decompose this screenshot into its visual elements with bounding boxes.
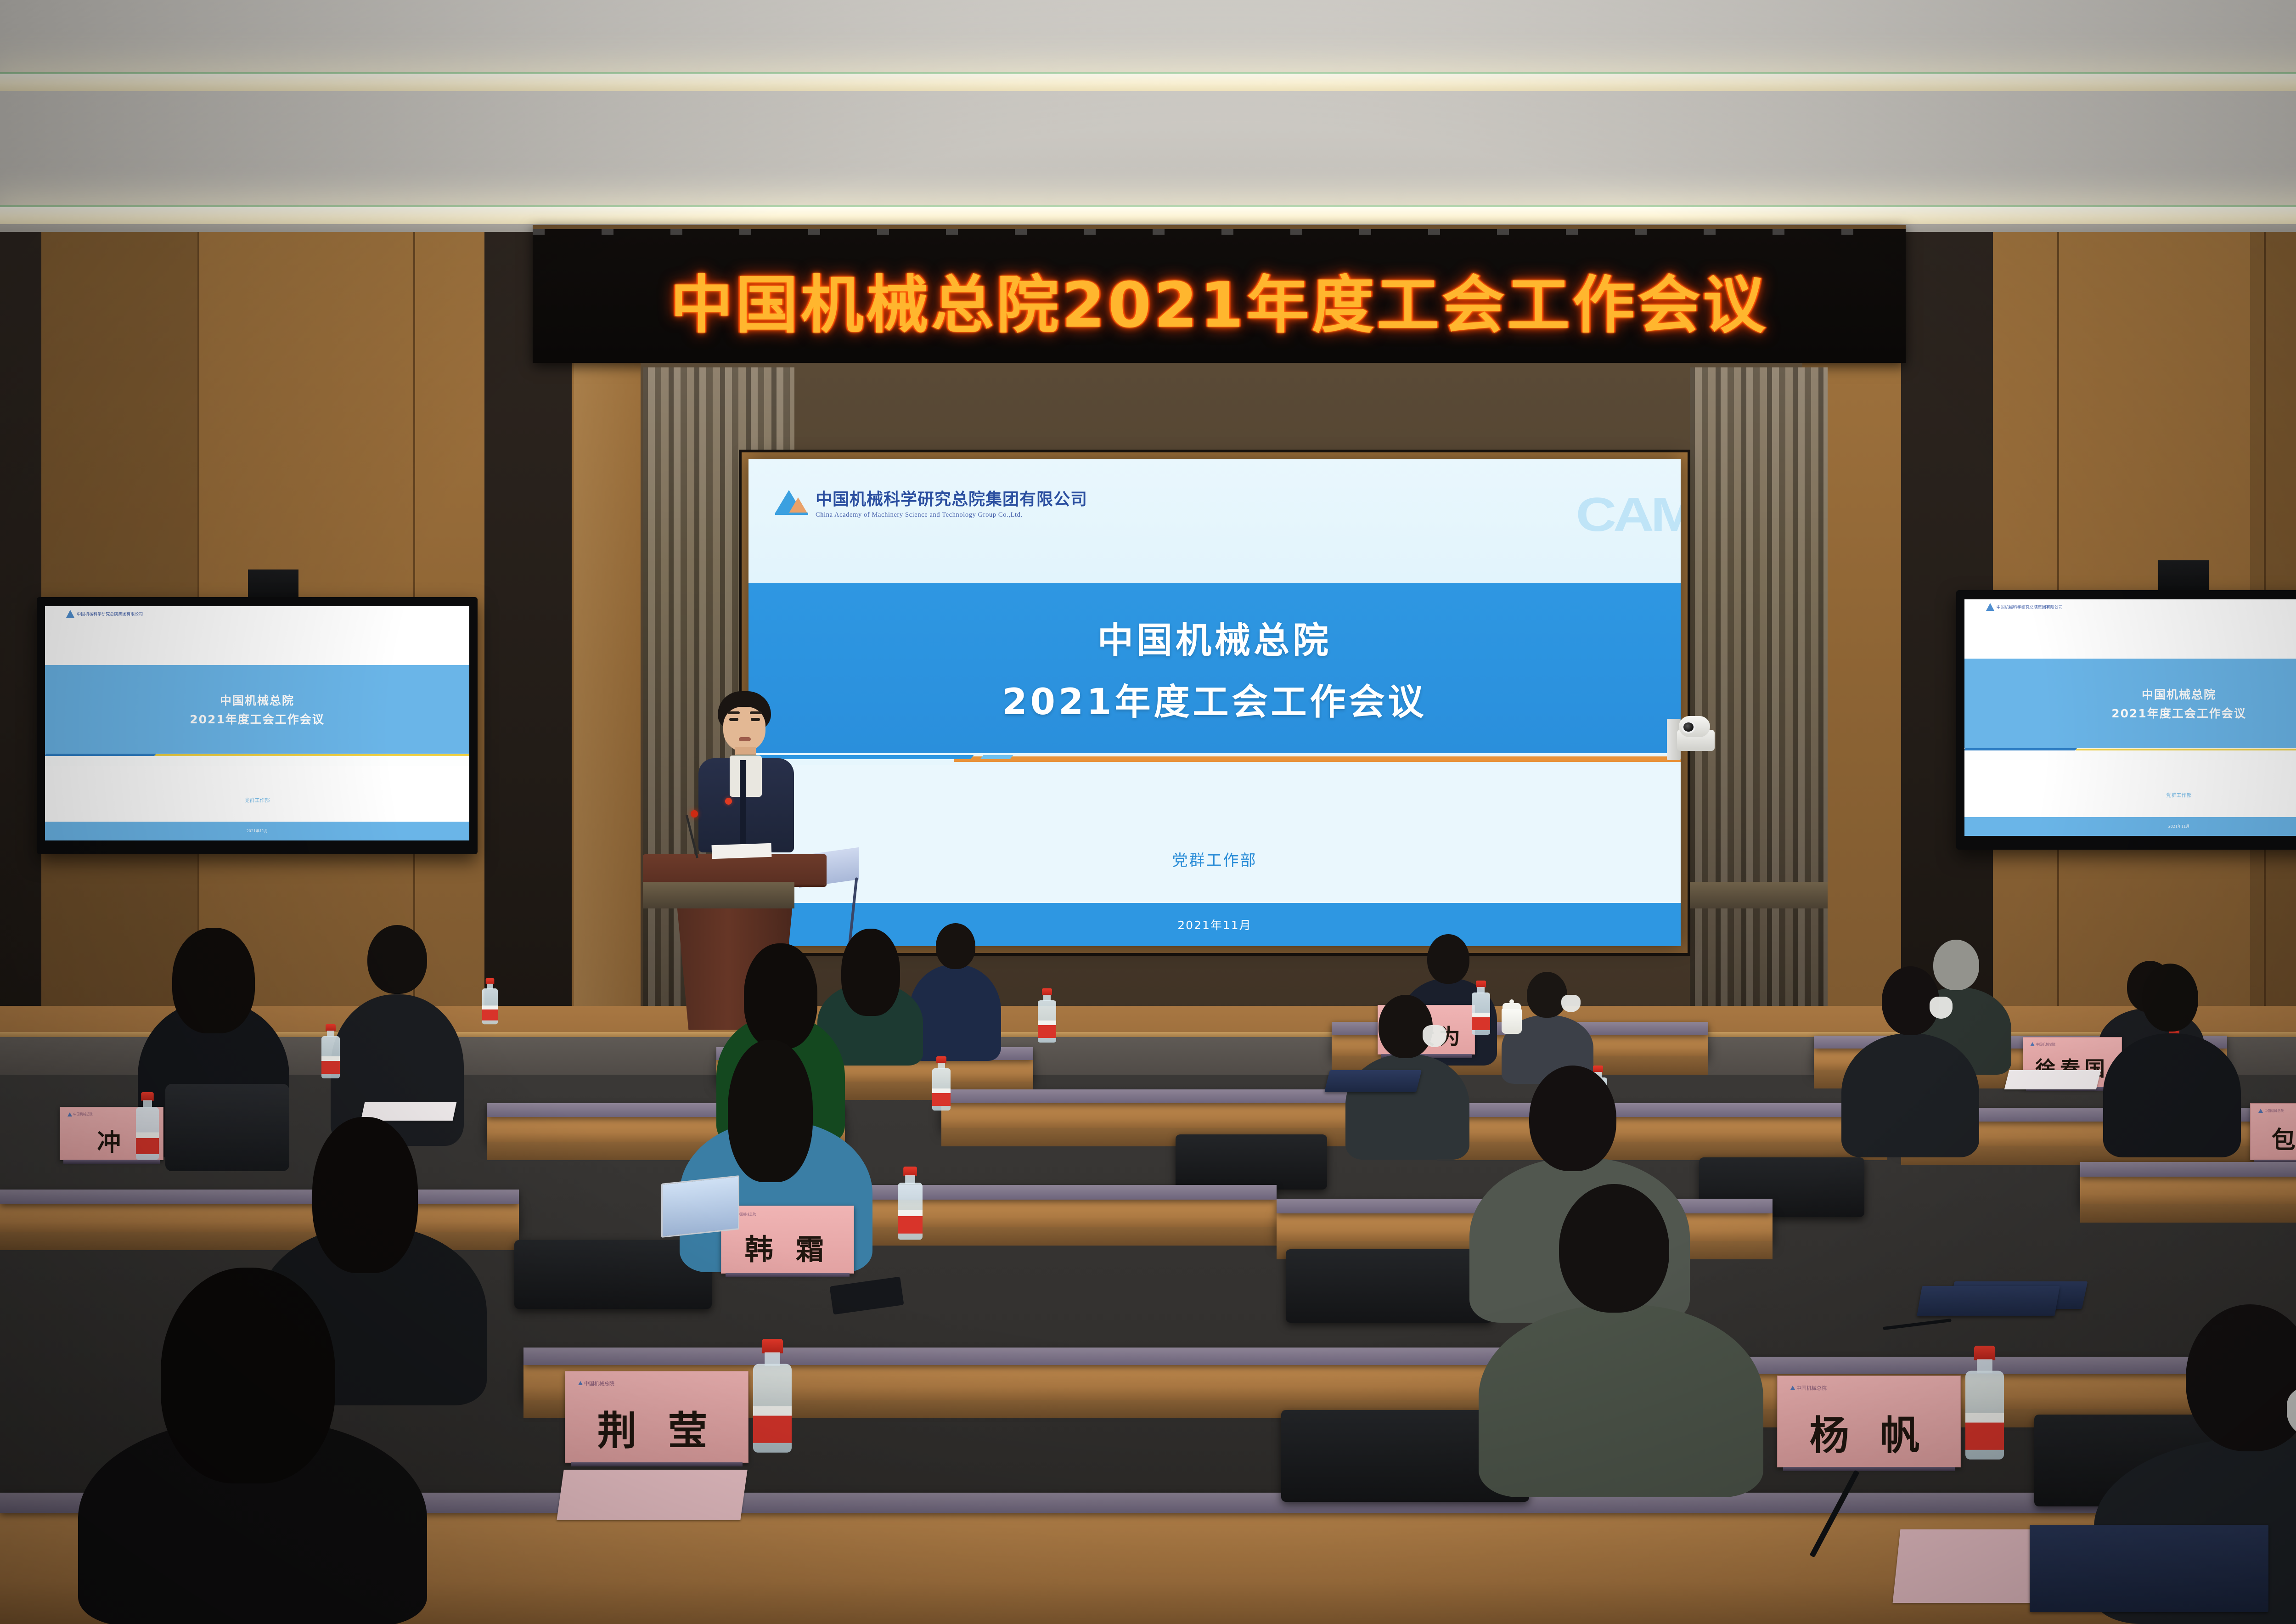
notebook <box>1917 1286 2060 1316</box>
monitor-title-line1-left: 中国机械总院 <box>220 692 294 708</box>
placard-name: 韩 霜 <box>721 1226 854 1268</box>
monitor-title-line1-right: 中国机械总院 <box>2142 686 2216 702</box>
name-placard: 中国机械总院 杨 帆 <box>1777 1376 1961 1467</box>
attendee-person <box>1479 1176 1763 1497</box>
placard-org: 中国机械总院 <box>584 1380 614 1387</box>
attendee-person <box>2103 955 2241 1157</box>
curtain-tieback-right <box>1690 882 1828 908</box>
monitor-arm-right <box>2158 560 2209 592</box>
ceiling-panel-middle <box>0 91 2296 207</box>
ceiling-light-strip-2 <box>0 207 2296 224</box>
notebook <box>1324 1070 1422 1092</box>
name-placard: 中国机械总院 包 捷 <box>2250 1103 2296 1160</box>
slide-header: 中国机械科学研究总院集团有限公司 China Academy of Machin… <box>748 459 1681 583</box>
slide-body: 党群工作部 <box>748 765 1681 903</box>
stage-curtain-right <box>1690 367 1828 1024</box>
side-monitor-right-screen: 中国机械科学研究总院集团有限公司 中国机械总院 2021年度工会工作会议 党群工… <box>1964 599 2296 836</box>
placard-org: 中国机械总院 <box>73 1112 93 1116</box>
curtain-tieback-left <box>643 882 794 908</box>
tablet-device <box>661 1175 739 1238</box>
slide-title-line2: 2021年度工会工作会议 <box>1002 673 1427 725</box>
microphone-indicator-icon <box>691 810 698 818</box>
paper-sheet <box>2004 1070 2101 1089</box>
led-banner: 中国机械总院2021年度工会工作会议 <box>533 225 1906 363</box>
tea-cup <box>1502 1008 1522 1034</box>
monitor-department-left: 党群工作部 <box>45 796 469 804</box>
placard-name: 杨 帆 <box>1778 1403 1960 1460</box>
lapel-pin-icon <box>725 798 732 805</box>
company-name-en: China Academy of Machinery Science and T… <box>816 511 1087 519</box>
face-mask-icon <box>1423 1025 1446 1047</box>
side-monitor-left: 中国机械科学研究总院集团有限公司 中国机械总院 2021年度工会工作会议 党群工… <box>37 597 478 854</box>
attendee-person-foreground <box>78 1268 427 1624</box>
projection-slide: 中国机械科学研究总院集团有限公司 China Academy of Machin… <box>748 459 1681 946</box>
ceiling <box>0 0 2296 239</box>
mountain-logo-icon <box>775 490 808 515</box>
face-mask-icon <box>1930 997 1953 1019</box>
monitor-date-right: 2021年11月 <box>1964 817 2296 836</box>
ceiling-panel-upper <box>0 0 2296 73</box>
ptz-camera-icon <box>1667 714 1717 767</box>
attendee-person <box>1841 960 1979 1157</box>
attendee-person <box>909 909 1001 1061</box>
mountain-logo-icon <box>1986 603 1994 611</box>
mountain-logo-icon <box>578 1381 583 1385</box>
ceiling-light-strip-1 <box>0 73 2296 91</box>
mountain-logo-icon <box>68 1112 72 1116</box>
company-logo: 中国机械科学研究总院集团有限公司 China Academy of Machin… <box>775 486 1087 519</box>
monitor-department-right: 党群工作部 <box>1964 791 2296 799</box>
name-placard: 中国机械总院 荆 莹 <box>565 1371 748 1463</box>
wall-pillar-far-left <box>0 232 41 1040</box>
placard-name: 包 捷 <box>2251 1121 2296 1155</box>
chair-back <box>1176 1134 1327 1190</box>
slide-department: 党群工作部 <box>748 848 1681 870</box>
monitor-title-line2-left: 2021年度工会工作会议 <box>190 710 325 727</box>
slide-title-block: 中国机械总院 2021年度工会工作会议 <box>748 583 1681 753</box>
desk-panel <box>2080 1162 2296 1177</box>
face-mask-icon <box>1561 995 1581 1012</box>
monitor-logo-left: 中国机械科学研究总院集团有限公司 <box>66 610 143 618</box>
cam-watermark: CAM <box>1576 488 1681 542</box>
desk-panel <box>523 1348 1557 1365</box>
mountain-logo-icon <box>2030 1042 2035 1046</box>
conference-hall-photo: 中国机械总院2021年度工会工作会议 中国机械科学研究总院集团有限公司 Chin… <box>0 0 2296 1624</box>
paper-sheet <box>557 1470 747 1520</box>
company-name-cn: 中国机械科学研究总院集团有限公司 <box>816 486 1087 510</box>
slide-title-line1: 中国机械总院 <box>1097 612 1332 663</box>
slide-title-band: 中国机械总院 2021年度工会工作会议 <box>748 583 1681 753</box>
side-monitor-right: 中国机械科学研究总院集团有限公司 中国机械总院 2021年度工会工作会议 党群工… <box>1956 590 2296 850</box>
name-placard: 中国机械总院 韩 霜 <box>721 1206 854 1274</box>
mountain-logo-icon <box>66 610 74 618</box>
monitor-logo-right: 中国机械科学研究总院集团有限公司 <box>1986 603 2063 611</box>
placard-org: 中国机械总院 <box>1796 1384 1827 1392</box>
monitor-date-left: 2021年11月 <box>45 822 469 840</box>
desk-row-c-far-right <box>2080 1176 2296 1205</box>
monitor-company-name-left: 中国机械科学研究总院集团有限公司 <box>77 611 143 617</box>
monitor-title-line2-right: 2021年度工会工作会议 <box>2111 705 2246 721</box>
notebook <box>2030 1525 2268 1612</box>
placard-name: 荆 莹 <box>565 1398 748 1456</box>
placard-org: 中国机械总院 <box>2036 1042 2055 1047</box>
side-monitor-left-screen: 中国机械科学研究总院集团有限公司 中国机械总院 2021年度工会工作会议 党群工… <box>45 606 469 840</box>
speech-papers <box>712 843 772 859</box>
chair-back <box>1286 1249 1492 1323</box>
monitor-company-name-right: 中国机械科学研究总院集团有限公司 <box>1997 604 2063 610</box>
slide-date: 2021年11月 <box>1177 916 1251 933</box>
placard-org: 中国机械总院 <box>2264 1109 2284 1113</box>
mountain-logo-icon <box>2258 1109 2263 1113</box>
led-banner-text: 中国机械总院2021年度工会工作会议 <box>533 254 1906 345</box>
placard-org: 中国机械总院 <box>737 1212 756 1217</box>
slide-accent-stripes <box>748 753 1681 765</box>
mountain-logo-icon <box>1790 1386 1795 1390</box>
